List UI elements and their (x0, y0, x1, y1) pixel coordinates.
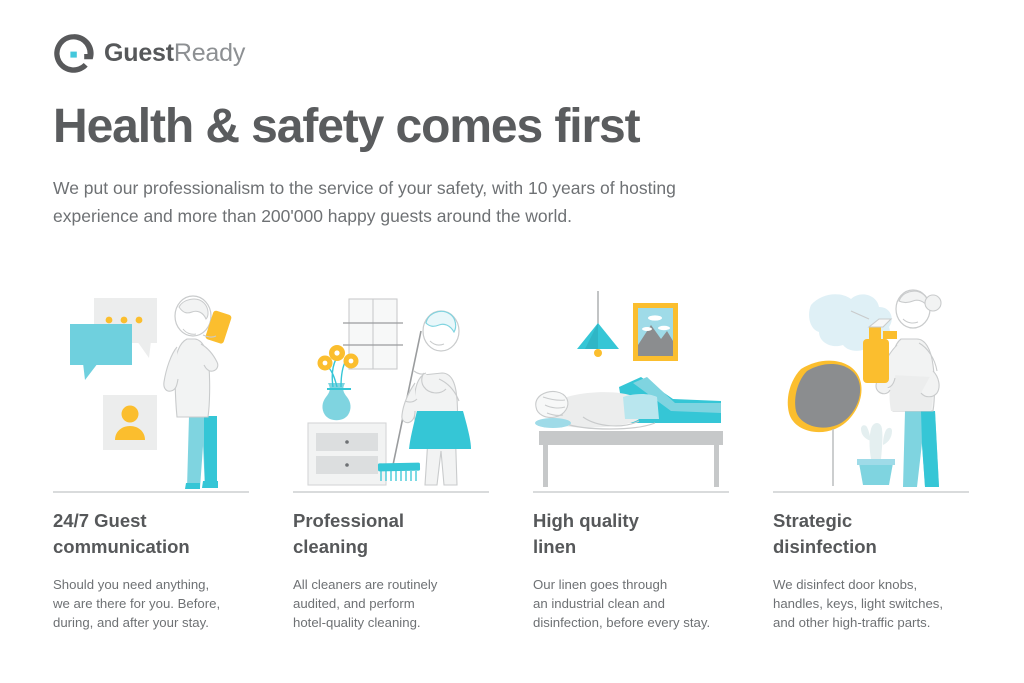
guestready-house-logo-icon (53, 33, 94, 74)
infographic-page: GuestReady Health & safety comes first W… (0, 0, 1024, 683)
card-body: Should you need anything, we are there f… (53, 575, 258, 632)
card-body: We disinfect door knobs, handles, keys, … (773, 575, 978, 632)
brand-logo[interactable]: GuestReady (53, 33, 245, 74)
page-subtitle: We put our professionalism to the servic… (53, 174, 733, 231)
brand-name-bold: Guest (104, 39, 174, 67)
brand-wordmark: GuestReady (104, 39, 245, 68)
card-divider (773, 491, 969, 493)
card-title: High quality linen (533, 508, 733, 561)
card-divider (53, 491, 249, 493)
card-title: Strategic disinfection (773, 508, 973, 561)
brand-name-light: Ready (174, 39, 245, 67)
page-title: Health & safety comes first (53, 99, 640, 154)
professional-cleaning-illustration (293, 283, 489, 491)
card-divider (533, 491, 729, 493)
strategic-disinfection-illustration (773, 283, 969, 491)
card-title: Professional cleaning (293, 508, 493, 561)
card-divider (293, 491, 489, 493)
card-title: 24/7 Guest communication (53, 508, 253, 561)
high-quality-linen-illustration (533, 283, 729, 491)
card-body: All cleaners are routinely audited, and … (293, 575, 498, 632)
feature-card-high-quality-linen: High quality linen Our linen goes throug… (533, 283, 729, 491)
card-body: Our linen goes through an industrial cle… (533, 575, 738, 632)
feature-card-guest-communication: 24/7 Guest communication Should you need… (53, 283, 249, 491)
feature-card-strategic-disinfection: Strategic disinfection We disinfect door… (773, 283, 969, 491)
guest-communication-illustration (53, 283, 249, 491)
feature-card-professional-cleaning: Professional cleaning All cleaners are r… (293, 283, 489, 491)
